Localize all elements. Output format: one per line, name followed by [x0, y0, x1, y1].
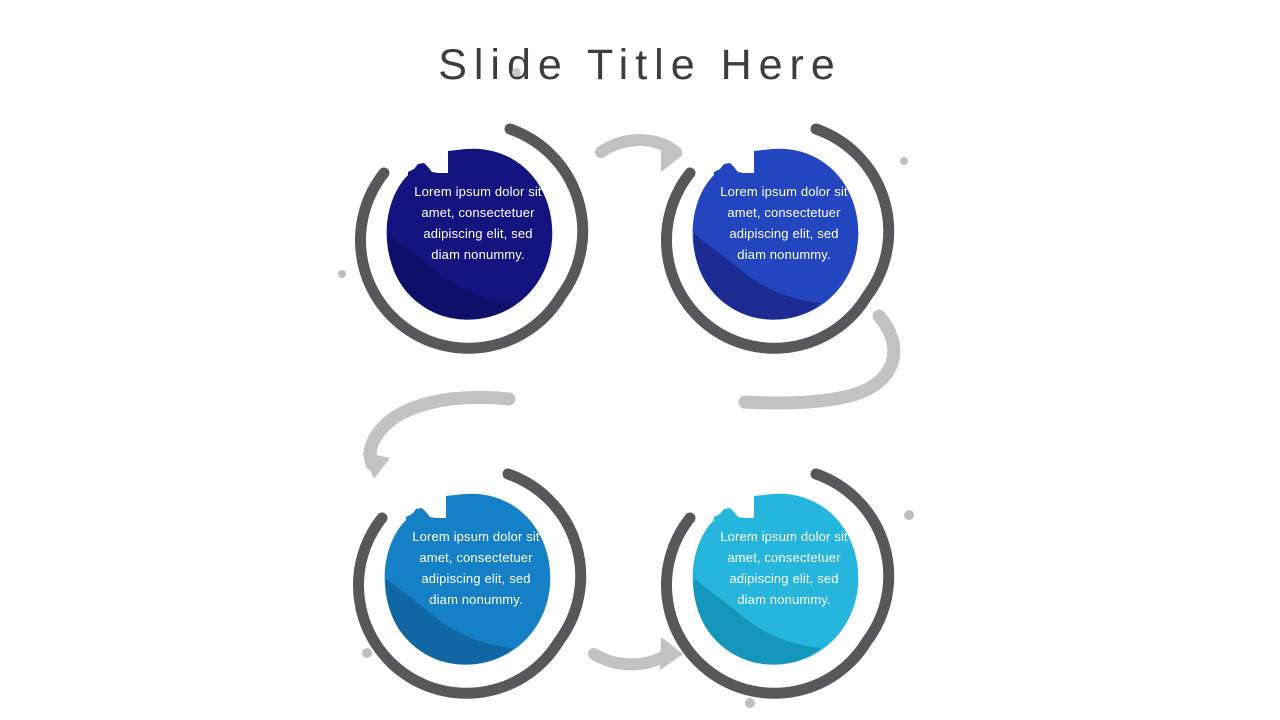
node-4-blob — [693, 494, 859, 665]
node-2-graphic — [668, 123, 898, 353]
arrow-sweep-to-node3 — [362, 397, 509, 479]
node-3-graphic — [360, 468, 590, 698]
node-2[interactable]: Lorem ipsum dolor sit amet, consectetuer… — [668, 123, 898, 353]
deco-dot-right-upper — [900, 157, 908, 165]
deco-dot-right-lower — [904, 510, 914, 520]
node-3-blob — [385, 494, 551, 665]
node-4-graphic — [668, 468, 898, 698]
node-4[interactable]: Lorem ipsum dolor sit amet, consectetuer… — [668, 468, 898, 698]
deco-dot-bottom — [745, 698, 755, 708]
node-1[interactable]: Lorem ipsum dolor sit amet, consectetuer… — [362, 123, 592, 353]
node-1-blob — [387, 149, 553, 320]
deco-dot-left-upper — [338, 270, 346, 278]
node-3[interactable]: Lorem ipsum dolor sit amet, consectetuer… — [360, 468, 590, 698]
arrow-layer — [0, 0, 1280, 720]
deco-dot-title — [512, 68, 521, 77]
node-2-blob — [693, 149, 859, 320]
node-1-graphic — [362, 123, 592, 353]
page-title: Slide Title Here — [0, 42, 1280, 89]
slide-canvas: Slide Title Here — [0, 0, 1280, 720]
